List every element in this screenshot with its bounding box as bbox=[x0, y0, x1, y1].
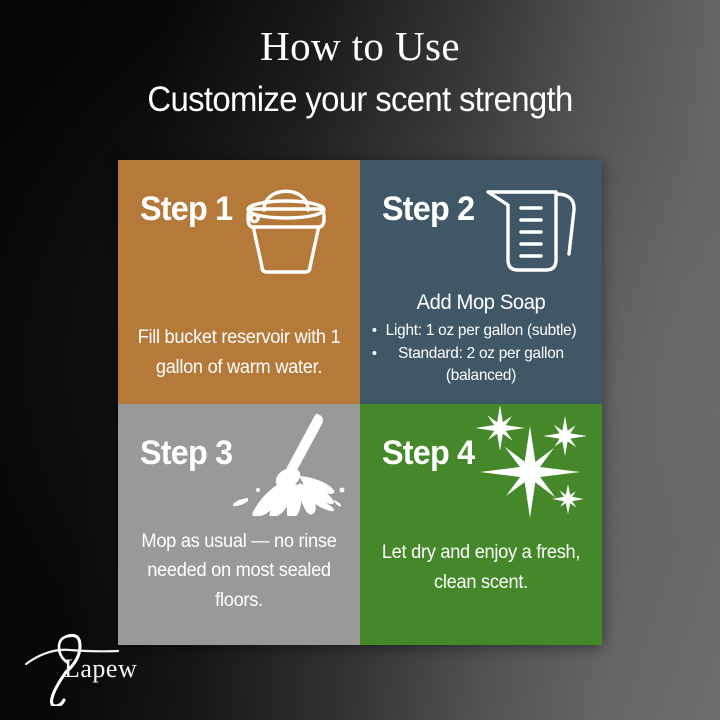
brand-logo: Lapew bbox=[16, 628, 196, 706]
bullet-text: Standard: 2 oz per gallon (balanced) bbox=[398, 345, 564, 385]
step-card-1: Step 1 Fill bucket reservoir with 1 gall… bbox=[118, 160, 360, 404]
step-2-label: Step 2 bbox=[382, 190, 474, 229]
step-card-3: Step 3 bbox=[118, 404, 360, 645]
step-2-bullet-list: Light: 1 oz per gallon (subtle) Standard… bbox=[376, 320, 585, 388]
bullet-text: Light: 1 oz per gallon (subtle) bbox=[386, 322, 577, 339]
step-3-body: Mop as usual — no rinse needed on most s… bbox=[134, 527, 343, 615]
step-3-label: Step 3 bbox=[140, 434, 232, 473]
step-card-2: Step 2 Add Mop Soap bbox=[360, 160, 602, 404]
list-item: Light: 1 oz per gallon (subtle) bbox=[376, 320, 585, 343]
list-item: Standard: 2 oz per gallon (balanced) bbox=[376, 343, 585, 388]
steps-grid: Step 1 Fill bucket reservoir with 1 gall… bbox=[118, 160, 602, 645]
bullet-dot-icon bbox=[373, 351, 377, 355]
page-subtitle: Customize your scent strength bbox=[22, 80, 699, 119]
brand-name: Lapew bbox=[64, 654, 137, 684]
step-1-body: Fill bucket reservoir with 1 gallon of w… bbox=[134, 323, 343, 382]
step-4-label: Step 4 bbox=[382, 434, 474, 473]
step-2-body: Add Mop Soap Light: 1 oz per gallon (sub… bbox=[376, 289, 585, 388]
step-4-body: Let dry and enjoy a fresh, clean scent. bbox=[376, 538, 585, 597]
step-1-label: Step 1 bbox=[140, 190, 232, 229]
page-title: How to Use bbox=[0, 26, 720, 67]
header: How to Use Customize your scent strength bbox=[0, 26, 720, 119]
mop-icon bbox=[230, 408, 356, 516]
step-card-4: Step 4 bbox=[360, 404, 602, 645]
bullet-dot-icon bbox=[373, 328, 377, 332]
bucket-icon bbox=[226, 168, 346, 276]
step-2-heading: Add Mop Soap bbox=[376, 289, 585, 316]
measuring-cup-icon bbox=[472, 172, 592, 280]
infographic-canvas: How to Use Customize your scent strength… bbox=[0, 0, 720, 720]
sparkles-icon bbox=[468, 406, 598, 518]
